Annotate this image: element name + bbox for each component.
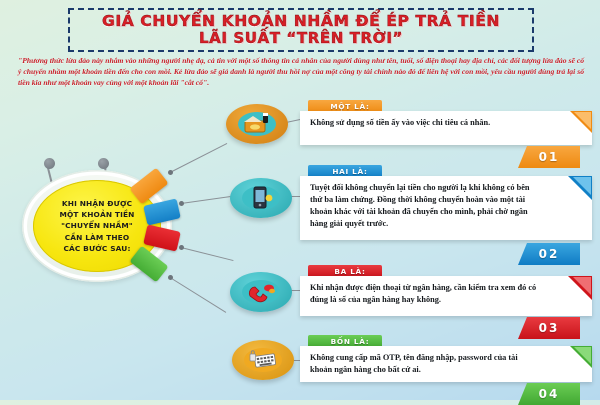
connector-dot-3 xyxy=(179,245,184,250)
mobile-phone-icon xyxy=(241,185,281,211)
step-number-2: 02 xyxy=(539,247,560,261)
step-text-2: Tuyệt đối không chuyển lại tiền cho ngườ… xyxy=(310,182,540,230)
step-body-4: Không cung cấp mã OTP, tên đăng nhập, pa… xyxy=(300,346,592,382)
step-text-1: Không sử dụng số tiền ấy vào việc chi ti… xyxy=(310,117,540,129)
step-number-badge-3: 03 xyxy=(518,317,580,339)
hub-wheel: KHI NHẬN ĐƯỢC MỘT KHOẢN TIỀN "CHUYỂN NHẦ… xyxy=(14,158,189,293)
icon-disc-step-2 xyxy=(230,178,292,218)
telephone-handset-icon xyxy=(241,279,281,305)
intro-paragraph: "Phương thức lừa đảo này nhắm vào những … xyxy=(18,56,584,88)
keypad-lock-icon xyxy=(243,347,283,373)
title-box: GIẢ CHUYỂN KHOẢN NHẦM ĐỂ ÉP TRẢ TIỀN LÃI… xyxy=(68,8,534,52)
wallet-money-icon xyxy=(237,111,277,137)
connector-dot-2 xyxy=(179,201,184,206)
step-fold-shine-3 xyxy=(573,277,591,295)
hub-line-1: KHI NHẬN ĐƯỢC xyxy=(59,198,134,209)
page-title-line-1: GIẢ CHUYỂN KHOẢN NHẦM ĐỂ ÉP TRẢ TIỀN xyxy=(102,13,500,30)
icon-disc-step-3 xyxy=(230,272,292,312)
step-number-4: 04 xyxy=(539,387,560,401)
hub-line-2: MỘT KHOẢN TIỀN xyxy=(59,209,134,220)
hub-line-5: CÁC BƯỚC SAU: xyxy=(59,243,134,254)
step-tab-label-1: MỘT LÀ: xyxy=(330,102,369,111)
step-body-3: Khi nhận được điện thoại từ ngân hàng, c… xyxy=(300,276,592,316)
infographic-canvas: GIẢ CHUYỂN KHOẢN NHẦM ĐỂ ÉP TRẢ TIỀN LÃI… xyxy=(0,0,600,400)
connector-dot-1 xyxy=(168,170,173,175)
step-text-3: Khi nhận được điện thoại từ ngân hàng, c… xyxy=(310,282,540,306)
connector-line-4 xyxy=(170,277,227,313)
connector-dot-4 xyxy=(168,275,173,280)
step-tab-label-2: HAI LÀ: xyxy=(332,167,367,176)
step-fold-shine-2 xyxy=(573,177,591,195)
hub-line-3: "CHUYỂN NHẦM" xyxy=(59,220,134,231)
step-tab-label-4: BỐN LÀ: xyxy=(331,337,370,346)
step-tab-label-3: BA LÀ: xyxy=(334,267,365,276)
icon-disc-step-1 xyxy=(226,104,288,144)
hub-core-text: KHI NHẬN ĐƯỢC MỘT KHOẢN TIỀN "CHUYỂN NHẦ… xyxy=(59,198,134,254)
step-text-4: Không cung cấp mã OTP, tên đăng nhập, pa… xyxy=(310,352,540,376)
step-number-badge-1: 01 xyxy=(518,146,580,168)
step-number-badge-2: 02 xyxy=(518,243,580,265)
step-number-3: 03 xyxy=(539,321,560,335)
step-body-1: Không sử dụng số tiền ấy vào việc chi ti… xyxy=(300,111,592,145)
icon-disc-step-4 xyxy=(232,340,294,380)
page-title-line-2: LÃI SUẤT “TRÊN TRỜI” xyxy=(199,30,403,47)
step-number-badge-4: 04 xyxy=(518,383,580,405)
step-body-2: Tuyệt đối không chuyển lại tiền cho ngườ… xyxy=(300,176,592,240)
hub-line-4: CẦN LÀM THEO xyxy=(59,232,134,243)
step-fold-shine-1 xyxy=(574,112,591,129)
step-fold-shine-4 xyxy=(574,347,591,364)
step-number-1: 01 xyxy=(539,150,560,164)
